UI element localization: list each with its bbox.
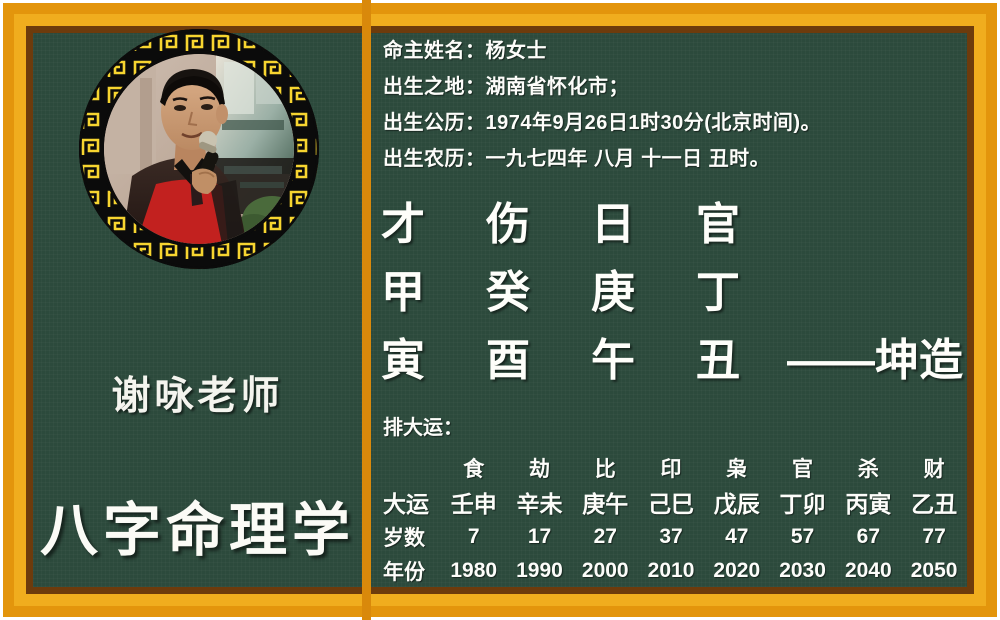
luck-year-8: 2050 <box>901 554 967 588</box>
luck-label-age: 岁数 <box>383 520 441 554</box>
ten-god-hour: 官 <box>696 188 801 252</box>
luck-row-ten-gods: 食 劫 比 印 枭 官 杀 财 <box>383 452 967 484</box>
luck-pillar-4: 己巳 <box>638 484 704 520</box>
luck-label-ten-god <box>383 452 441 484</box>
luck-pillar-1: 壬申 <box>441 484 507 520</box>
luck-age-3: 27 <box>572 520 638 554</box>
luck-pillar-8: 乙丑 <box>901 484 967 520</box>
ten-god-day: 日 <box>591 188 696 252</box>
info-row-name: 命主姓名：杨女士 <box>383 33 967 69</box>
branch-hour: 丑 <box>696 324 801 388</box>
teacher-name: 谢咏老师 <box>33 365 362 421</box>
luck-ten-god-7: 杀 <box>835 452 901 484</box>
left-panel: 谢咏老师 八字命理学 <box>33 33 362 587</box>
right-panel: 命主姓名：杨女士 出生之地：湖南省怀化市； 出生公历：1974年9月26日1时3… <box>371 33 967 587</box>
luck-age-5: 47 <box>704 520 770 554</box>
luck-ten-god-6: 官 <box>770 452 836 484</box>
luck-year-1: 1980 <box>441 554 507 588</box>
luck-pillar-5: 戊辰 <box>704 484 770 520</box>
luck-age-1: 7 <box>441 520 507 554</box>
stem-day: 庚 <box>591 256 696 320</box>
luck-age-4: 37 <box>638 520 704 554</box>
luck-label-pillar: 大运 <box>383 484 441 520</box>
portrait <box>79 29 319 269</box>
luck-ten-god-3: 比 <box>572 452 638 484</box>
luck-year-2: 1990 <box>507 554 573 588</box>
luck-label-year: 年份 <box>383 554 441 588</box>
stem-hour: 丁 <box>696 256 801 320</box>
luck-age-8: 77 <box>901 520 967 554</box>
luck-pillar-3: 庚午 <box>572 484 638 520</box>
panel-divider <box>362 0 371 620</box>
luck-age-2: 17 <box>507 520 573 554</box>
stem-year: 甲 <box>381 256 486 320</box>
branch-month: 酉 <box>486 324 591 388</box>
luck-age-6: 57 <box>770 520 836 554</box>
ten-god-month: 伤 <box>486 188 591 252</box>
pillar-row-heavenly-stems: 甲 癸 庚 丁 <box>381 256 967 324</box>
luck-ten-god-1: 食 <box>441 452 507 484</box>
luck-cycles-heading: 排大运： <box>383 411 967 440</box>
luck-year-4: 2010 <box>638 554 704 588</box>
luck-ten-god-8: 财 <box>901 452 967 484</box>
luck-year-5: 2020 <box>704 554 770 588</box>
luck-ten-god-2: 劫 <box>507 452 573 484</box>
birth-info-list: 命主姓名：杨女士 出生之地：湖南省怀化市； 出生公历：1974年9月26日1时3… <box>383 33 967 177</box>
subject-title: 八字命理学 <box>33 483 362 567</box>
gender-chart-label: ——坤造 <box>787 324 963 388</box>
luck-row-ages: 岁数 7 17 27 37 47 57 67 77 <box>383 520 967 554</box>
portrait-ring <box>79 29 319 269</box>
luck-pillar-7: 丙寅 <box>835 484 901 520</box>
luck-cycles-section: 排大运： 食 劫 比 印 枭 官 杀 财 大运 壬申 辛未 庚午 <box>383 411 967 588</box>
branch-day: 午 <box>591 324 696 388</box>
pillar-row-ten-gods: 才 伤 日 官 <box>381 188 967 256</box>
luck-year-7: 2040 <box>835 554 901 588</box>
luck-row-pillars: 大运 壬申 辛未 庚午 己巳 戊辰 丁卯 丙寅 乙丑 <box>383 484 967 520</box>
luck-ten-god-4: 印 <box>638 452 704 484</box>
luck-age-7: 67 <box>835 520 901 554</box>
luck-year-6: 2030 <box>770 554 836 588</box>
info-row-lunar: 出生农历：一九七四年 八月 十一日 丑时。 <box>383 141 967 177</box>
portrait-photo-image <box>104 54 294 244</box>
bazi-poster: 谢咏老师 八字命理学 命主姓名：杨女士 出生之地：湖南省怀化市； 出生公历：19… <box>0 0 1000 620</box>
branch-year: 寅 <box>381 324 486 388</box>
luck-year-3: 2000 <box>572 554 638 588</box>
luck-pillar-2: 辛未 <box>507 484 573 520</box>
pillar-row-earthly-branches: 寅 酉 午 丑 ——坤造 <box>381 324 967 392</box>
portrait-photo <box>104 54 294 244</box>
stem-month: 癸 <box>486 256 591 320</box>
info-row-birthplace: 出生之地：湖南省怀化市； <box>383 69 967 105</box>
ten-god-year: 才 <box>381 188 486 252</box>
luck-row-years: 年份 1980 1990 2000 2010 2020 2030 2040 20… <box>383 554 967 588</box>
luck-pillar-6: 丁卯 <box>770 484 836 520</box>
luck-cycles-table: 食 劫 比 印 枭 官 杀 财 大运 壬申 辛未 庚午 己巳 戊辰 丁卯 <box>383 452 967 588</box>
info-row-solar: 出生公历：1974年9月26日1时30分(北京时间)。 <box>383 105 967 141</box>
four-pillars-chart: 才 伤 日 官 甲 癸 庚 丁 寅 酉 午 丑 ——坤造 <box>381 188 967 392</box>
luck-ten-god-5: 枭 <box>704 452 770 484</box>
